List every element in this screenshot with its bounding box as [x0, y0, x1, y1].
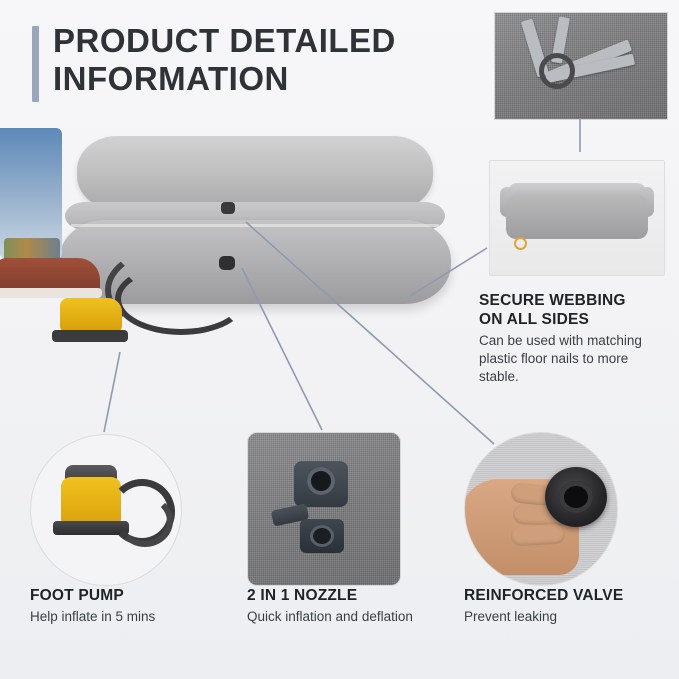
callout-description: Quick inflation and deflation	[247, 608, 417, 626]
pump-hose-secondary	[105, 246, 239, 334]
upper-valve	[221, 202, 235, 214]
sofa-with-webbing-photo	[489, 160, 665, 276]
title-accent-bar	[32, 26, 39, 102]
valve-cap	[545, 467, 607, 527]
top-cushion	[77, 136, 433, 210]
shoe-sole	[0, 288, 102, 298]
deflation-nozzle	[300, 519, 344, 553]
callout-description: Help inflate in 5 mins	[30, 608, 230, 626]
cushion-seam	[71, 224, 439, 227]
callout-heading: REINFORCED VALVE	[464, 586, 664, 605]
main-product-photo	[55, 128, 455, 328]
foot-pump-base	[52, 330, 128, 342]
callout-two-in-one-nozzle: 2 IN 1 NOZZLE Quick inflation and deflat…	[247, 586, 417, 626]
product-infographic-page: PRODUCT DETAILED INFORMATION	[0, 0, 679, 679]
page-title-line1: PRODUCT DETAILED	[53, 22, 396, 59]
callout-description: Can be used with matching plastic floor …	[479, 332, 669, 386]
fabric-texture	[248, 433, 400, 585]
page-title-block: PRODUCT DETAILED INFORMATION	[32, 22, 396, 102]
callout-heading: 2 IN 1 NOZZLE	[247, 586, 417, 605]
foot-pump-in-scene	[60, 298, 122, 332]
floor-nail-highlight	[514, 237, 527, 250]
nozzle-photo	[247, 432, 401, 586]
sofa-seat	[506, 195, 648, 239]
foot-pump-photo	[30, 434, 182, 586]
callout-description: Prevent leaking	[464, 608, 664, 626]
callout-heading-line2: ON ALL SIDES	[479, 311, 589, 328]
page-title: PRODUCT DETAILED INFORMATION	[53, 22, 396, 98]
strap-ring	[539, 53, 575, 89]
pump-coiled-hose-inner	[117, 495, 173, 547]
callout-heading: FOOT PUMP	[30, 586, 230, 605]
finger	[511, 524, 566, 547]
reinforced-valve-photo	[464, 432, 618, 586]
callout-foot-pump: FOOT PUMP Help inflate in 5 mins	[30, 586, 230, 626]
inflation-nozzle	[294, 461, 348, 507]
callout-heading: SECURE WEBBING ON ALL SIDES	[479, 291, 669, 329]
webbing-strap-closeup-photo	[494, 12, 668, 120]
callout-reinforced-valve: REINFORCED VALVE Prevent leaking	[464, 586, 664, 626]
page-title-line2: INFORMATION	[53, 60, 396, 98]
callout-secure-webbing: SECURE WEBBING ON ALL SIDES Can be used …	[479, 291, 669, 386]
callout-heading-line1: SECURE WEBBING	[479, 292, 626, 309]
